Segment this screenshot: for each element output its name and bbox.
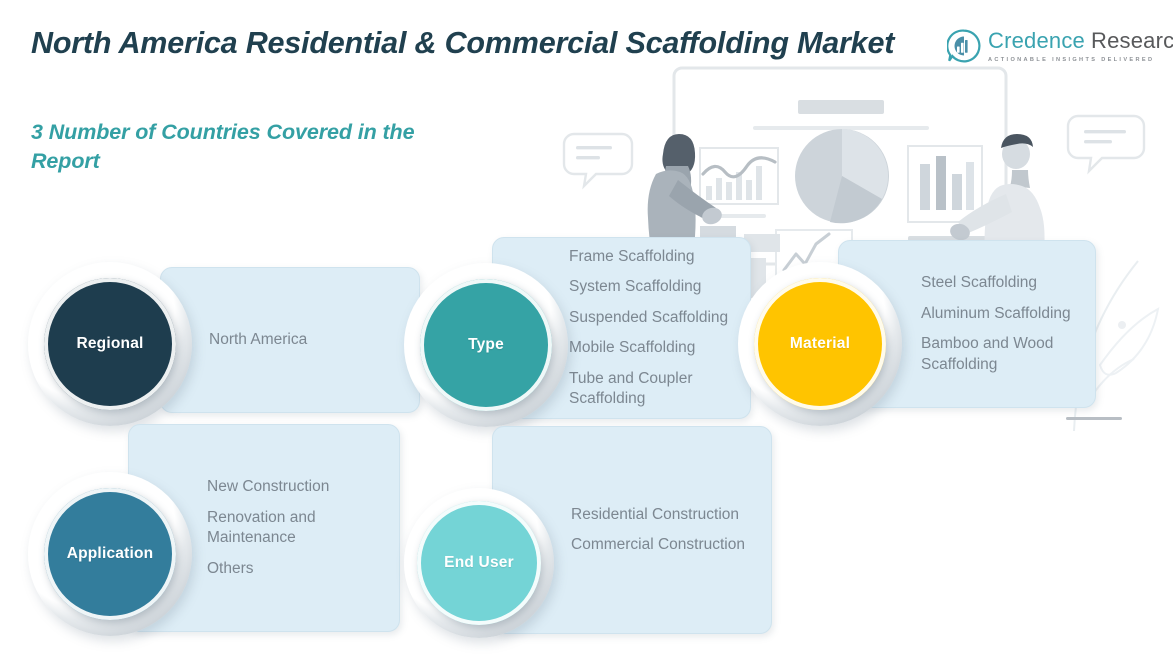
logo-tagline: Actionable Insights Delivered xyxy=(988,57,1173,63)
segment-circle-label: Regional xyxy=(76,335,143,353)
segment-item: Mobile Scaffolding xyxy=(569,338,740,359)
credence-logo-mark-icon xyxy=(947,29,981,63)
segment-item: Frame Scaffolding xyxy=(569,247,740,268)
segment-circle-label: End User xyxy=(444,554,514,572)
segment-item: Others xyxy=(207,559,389,580)
segment-circle-application[interactable]: Application xyxy=(44,488,176,620)
segment-circle-label: Type xyxy=(468,336,504,354)
segment-item: Steel Scaffolding xyxy=(921,273,1087,294)
segment-item: Renovation and Maintenance xyxy=(207,508,389,549)
segment-circle-label: Material xyxy=(790,335,850,353)
segment-item: System Scaffolding xyxy=(569,277,740,298)
segment-item: Bamboo and Wood Scaffolding xyxy=(921,334,1087,375)
segment-item: Residential Construction xyxy=(571,505,761,526)
segment-item: Aluminum Scaffolding xyxy=(921,304,1087,325)
segment-item: Suspended Scaffolding xyxy=(569,308,740,329)
logo-word-secondary: Research xyxy=(1091,28,1173,54)
segment-circle-regional[interactable]: Regional xyxy=(44,278,176,410)
logo-word-primary: Credence xyxy=(988,28,1085,54)
segment-item: North America xyxy=(209,330,419,351)
infographic-canvas: North America Residential & Commercial S… xyxy=(0,0,1173,658)
segment-item: New Construction xyxy=(207,477,389,498)
page-title: North America Residential & Commercial S… xyxy=(31,24,921,62)
segment-item: Commercial Construction xyxy=(571,535,761,556)
segment-circle-end-user[interactable]: End User xyxy=(417,501,541,625)
segment-circle-label: Application xyxy=(67,545,154,563)
page-subtitle: 3 Number of Countries Covered in the Rep… xyxy=(31,118,451,176)
segment-circle-material[interactable]: Material xyxy=(754,278,886,410)
segment-circle-type[interactable]: Type xyxy=(420,279,552,411)
credence-research-logo[interactable]: Credence Research Actionable Insights De… xyxy=(947,27,1147,72)
segment-item: Tube and Coupler Scaffolding xyxy=(569,369,740,410)
segment-panel-regional: North America xyxy=(160,267,420,413)
